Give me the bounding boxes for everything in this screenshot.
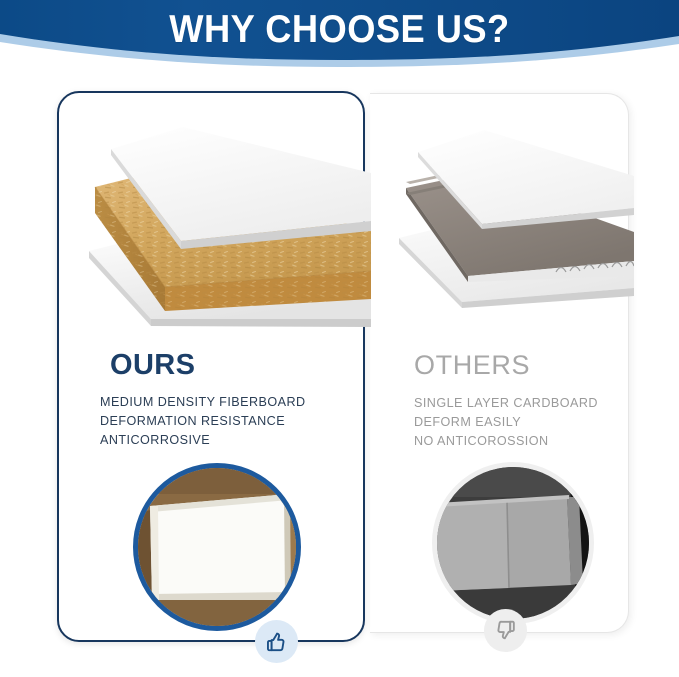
corrugated-cardboard-layers-illustration [384, 116, 634, 321]
page-header: WHY CHOOSE US? [0, 0, 679, 78]
ours-card: OURS MEDIUM DENSITY FIBERBOARD DEFORMATI… [57, 91, 365, 642]
others-feature-item: SINGLE LAYER CARDBOARD [414, 394, 598, 413]
ours-illustration [75, 121, 371, 331]
others-feature-item: DEFORM EASILY [414, 413, 598, 432]
others-heading: OTHERS [414, 350, 530, 381]
others-feature-list: SINGLE LAYER CARDBOARD DEFORM EASILY NO … [414, 394, 598, 451]
others-illustration [384, 116, 634, 321]
others-photo [432, 462, 594, 624]
comparison-section: OTHERS SINGLE LAYER CARDBOARD DEFORM EAS… [0, 78, 679, 677]
mdf-board-layers-illustration [75, 121, 371, 331]
ours-verdict-badge [255, 620, 298, 663]
thumbs-down-icon [493, 618, 518, 643]
white-board-photo [138, 468, 296, 626]
others-verdict-badge [484, 609, 527, 652]
page-title: WHY CHOOSE US? [24, 8, 655, 52]
ours-photo [133, 463, 301, 631]
ours-feature-item: DEFORMATION RESISTANCE [100, 412, 306, 431]
ours-heading: OURS [110, 349, 195, 382]
ours-feature-list: MEDIUM DENSITY FIBERBOARD DEFORMATION RE… [100, 393, 306, 450]
gray-panel-photo [437, 467, 589, 619]
others-card: OTHERS SINGLE LAYER CARDBOARD DEFORM EAS… [370, 93, 629, 633]
ours-feature-item: MEDIUM DENSITY FIBERBOARD [100, 393, 306, 412]
thumbs-up-icon [264, 629, 289, 654]
others-feature-item: NO ANTICOROSSION [414, 432, 598, 451]
ours-feature-item: ANTICORROSIVE [100, 431, 306, 450]
